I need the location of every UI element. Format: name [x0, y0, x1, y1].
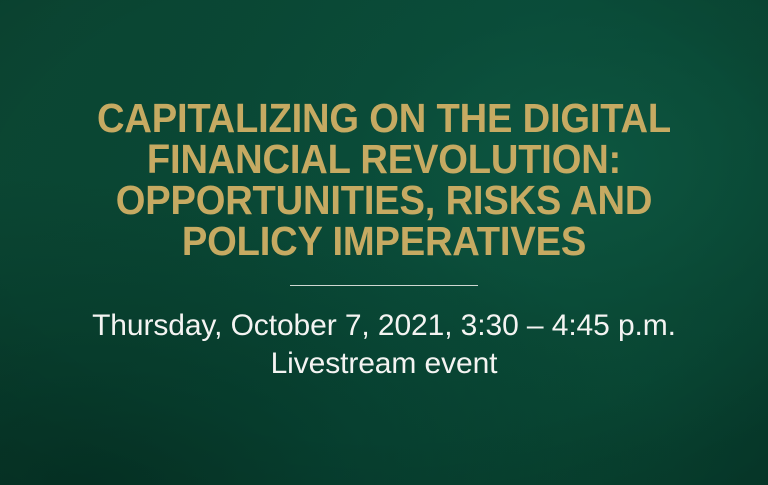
event-banner: Capitalizing on the Digital Financial Re… [0, 0, 768, 485]
event-title-line-1: Capitalizing on the Digital [59, 98, 710, 139]
event-title: Capitalizing on the Digital Financial Re… [59, 98, 710, 262]
event-datetime: Thursday, October 7, 2021, 3:30 – 4:45 p… [92, 307, 676, 345]
event-title-line-4: Policy Imperatives [59, 221, 710, 262]
title-divider [290, 285, 478, 286]
event-meta: Thursday, October 7, 2021, 3:30 – 4:45 p… [92, 307, 676, 383]
event-title-line-3: Opportunities, Risks and [59, 180, 710, 221]
event-format: Livestream event [92, 345, 676, 383]
event-title-line-2: Financial Revolution: [59, 139, 710, 180]
banner-content: Capitalizing on the Digital Financial Re… [0, 0, 768, 485]
